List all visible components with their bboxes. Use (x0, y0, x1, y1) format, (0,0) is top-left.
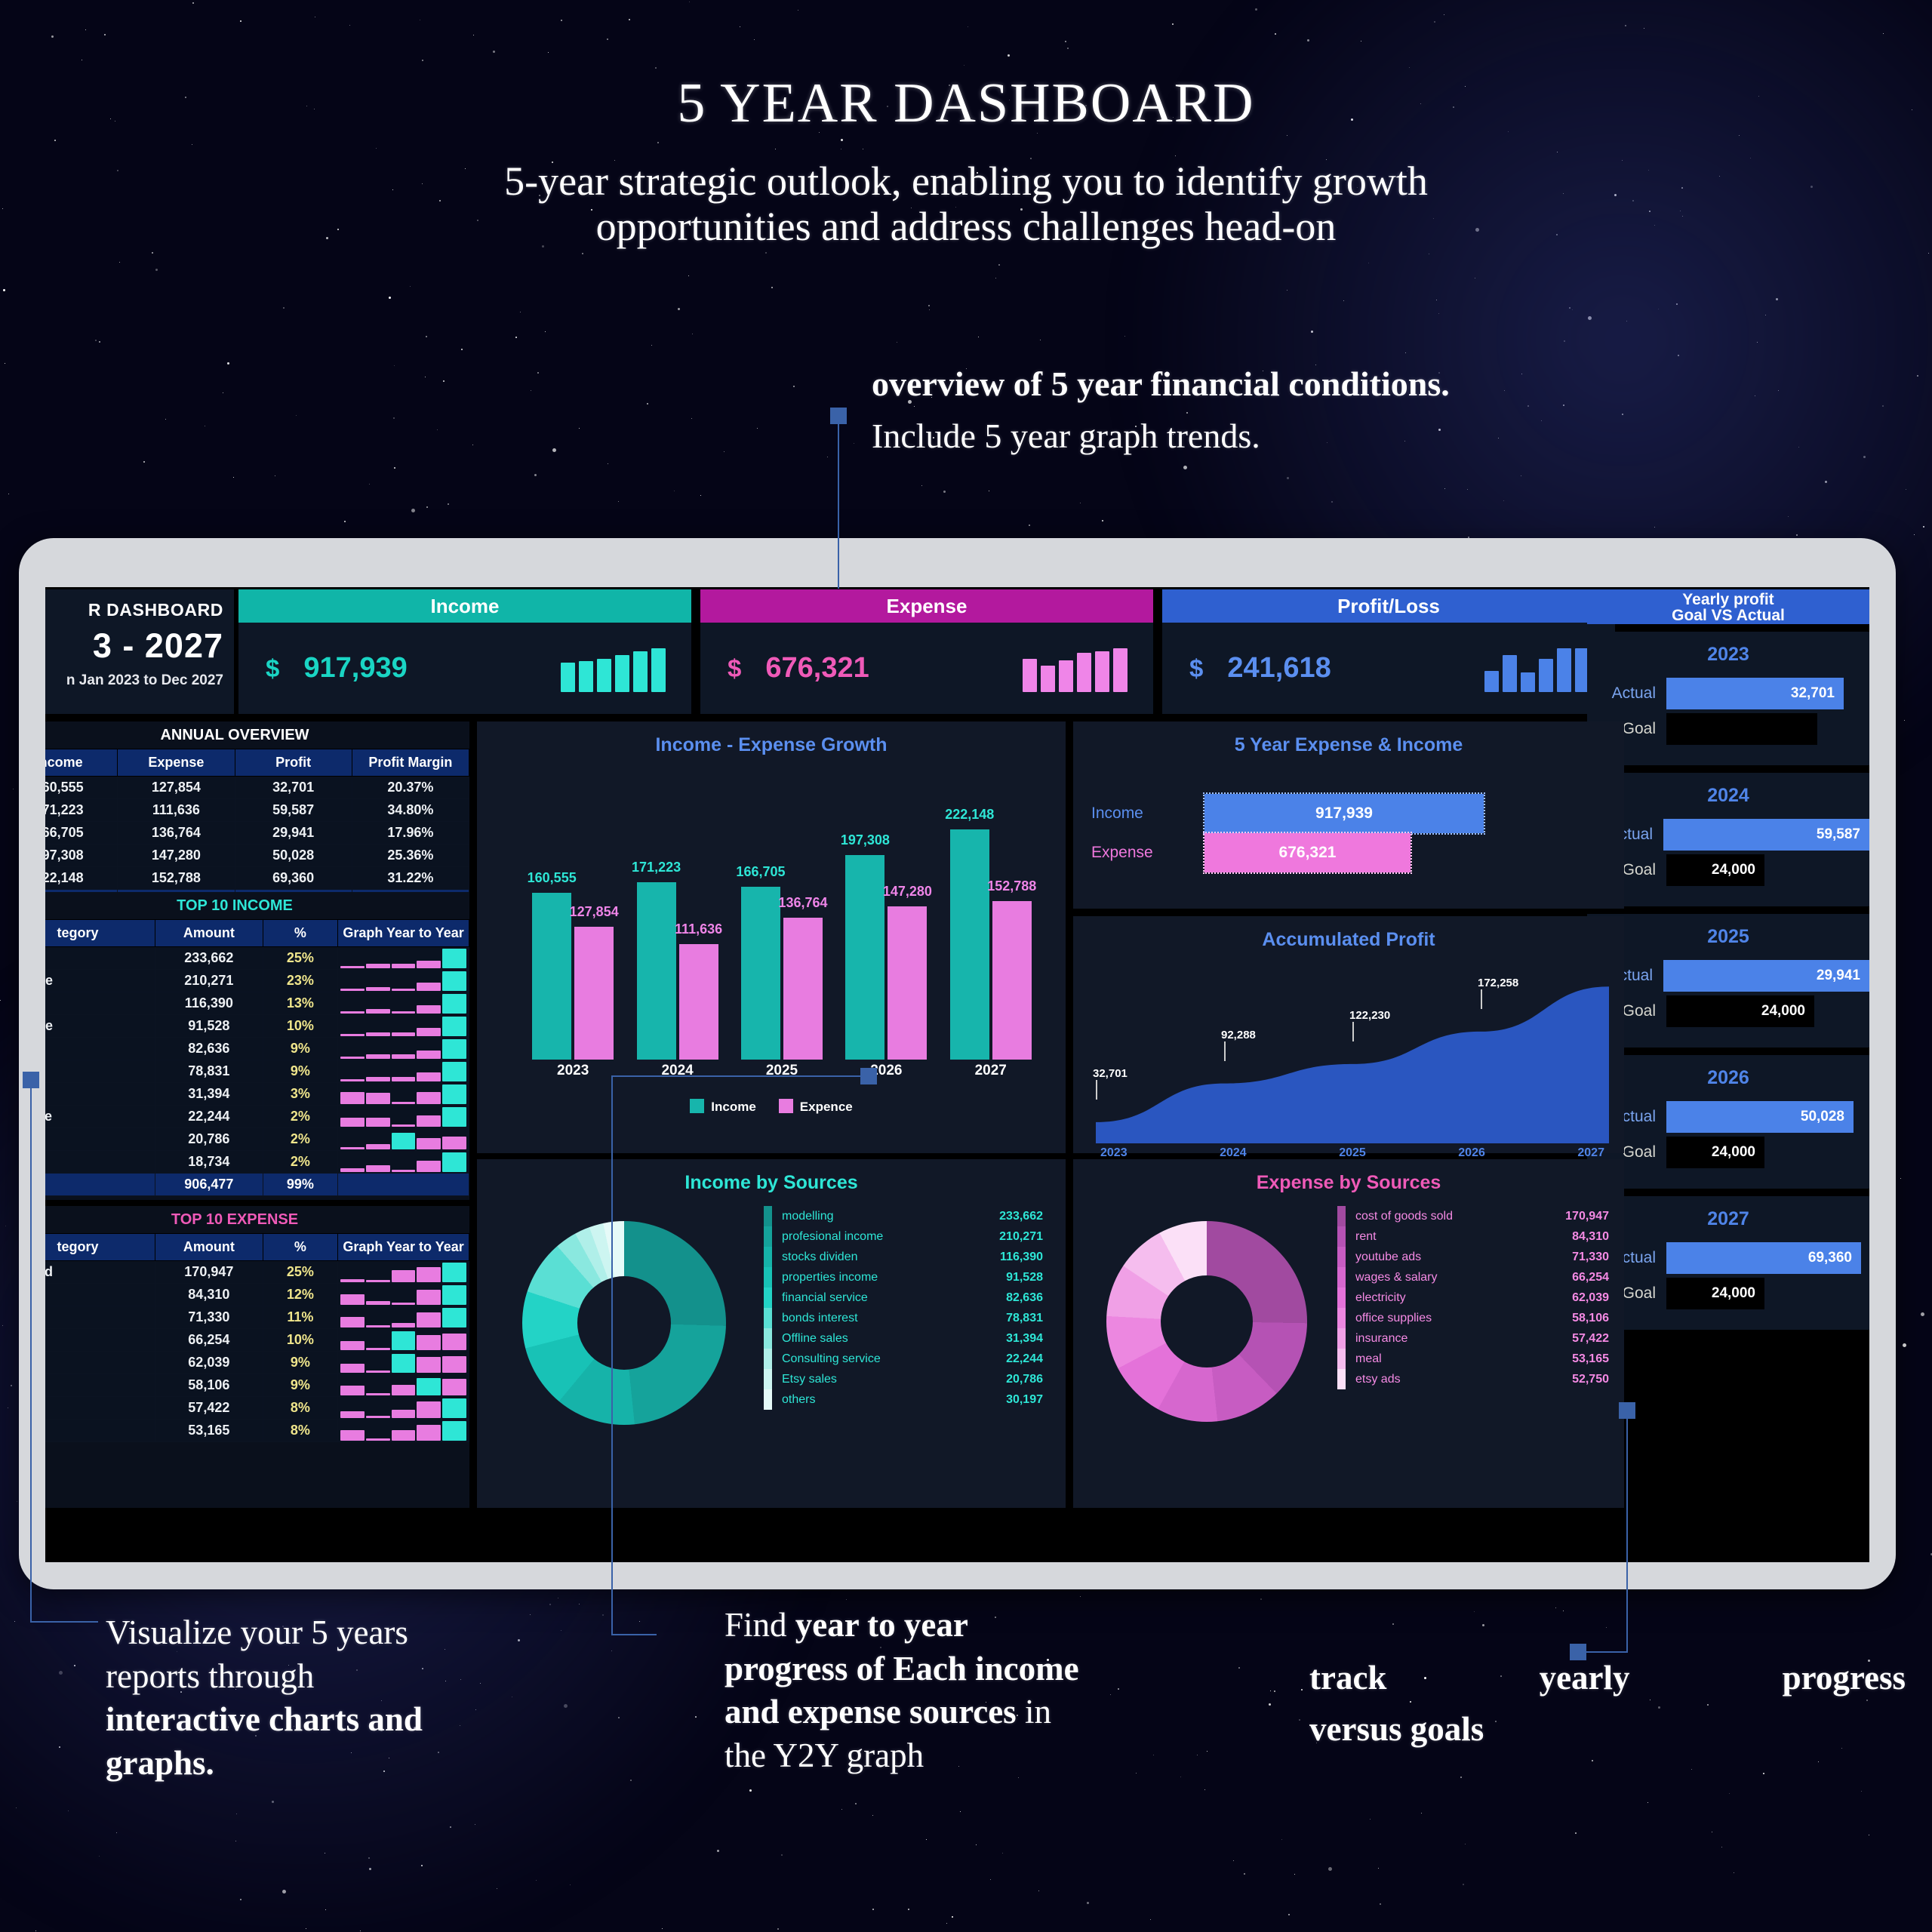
callout-overview-rest: Include 5 year graph trends. (872, 414, 1845, 459)
callout-visualize-l4: graphs. (106, 1742, 604, 1786)
callout-y2y-bold3: and expense sources (724, 1693, 1017, 1730)
callout-overview: overview of 5 year financial conditions.… (872, 362, 1845, 459)
callout-goals-line2: versus goals (1309, 1710, 1484, 1748)
callout-goals-w1: track (1309, 1657, 1386, 1700)
callout-goals: track yearly progress versus goals (1309, 1657, 1906, 1751)
callout-y2y-bold1: year to year (795, 1606, 968, 1644)
callout-goals-w2: yearly (1540, 1657, 1630, 1700)
callout-y2y-plain2: in (1017, 1693, 1051, 1730)
callout-y2y-plain3: the Y2Y graph (724, 1734, 1268, 1778)
page-subtitle-line-1: 5-year strategic outlook, enabling you t… (0, 158, 1932, 204)
callout-y2y: Find year to year progress of Each incom… (724, 1604, 1268, 1777)
callout-y2y-plain1: Find (724, 1606, 795, 1644)
page-header: 5 YEAR DASHBOARD 5-year strategic outloo… (0, 72, 1932, 250)
callout-visualize: Visualize your 5 years reports through i… (106, 1611, 604, 1785)
page-subtitle-line-2: opportunities and address challenges hea… (0, 204, 1932, 249)
callout-goals-w3: progress (1783, 1657, 1906, 1700)
callout-overview-bold: overview of 5 year financial conditions. (872, 362, 1845, 407)
callout-visualize-l2: reports through (106, 1655, 604, 1699)
callout-visualize-l3: interactive charts and (106, 1698, 604, 1742)
callout-y2y-bold2: progress of Each income (724, 1650, 1079, 1687)
page-title: 5 YEAR DASHBOARD (0, 72, 1932, 136)
callout-visualize-l1: Visualize your 5 years (106, 1611, 604, 1655)
